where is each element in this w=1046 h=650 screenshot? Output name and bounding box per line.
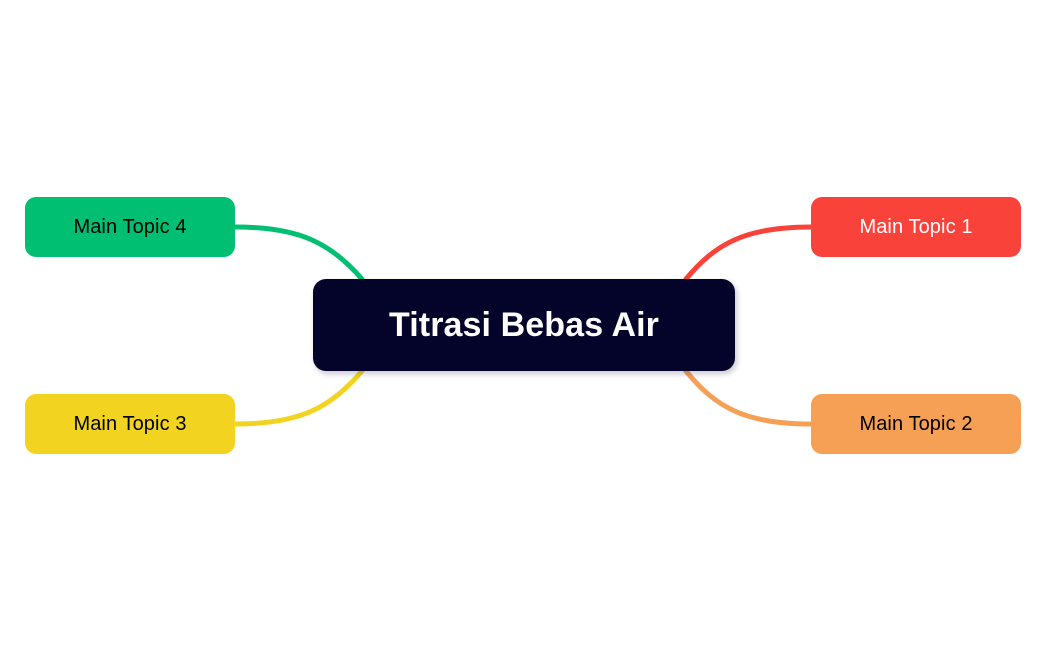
node-main-topic-1[interactable]: Main Topic 1 [811, 197, 1021, 257]
connector-topic-4 [235, 227, 362, 279]
node-main-topic-2-label: Main Topic 2 [859, 413, 972, 436]
node-main-topic-3-label: Main Topic 3 [73, 413, 186, 436]
connector-topic-2 [686, 371, 811, 424]
node-main-topic-2[interactable]: Main Topic 2 [811, 394, 1021, 454]
node-root-topic-label: Titrasi Bebas Air [389, 306, 659, 345]
mind-map-canvas: Main Topic 4 Main Topic 3 Main Topic 1 M… [0, 0, 1046, 650]
node-main-topic-3[interactable]: Main Topic 3 [25, 394, 235, 454]
connector-topic-1 [686, 227, 811, 279]
node-main-topic-4-label: Main Topic 4 [73, 216, 186, 239]
node-main-topic-1-label: Main Topic 1 [859, 216, 972, 239]
connector-topic-3 [235, 371, 362, 424]
node-root-topic[interactable]: Titrasi Bebas Air [313, 279, 735, 371]
node-main-topic-4[interactable]: Main Topic 4 [25, 197, 235, 257]
